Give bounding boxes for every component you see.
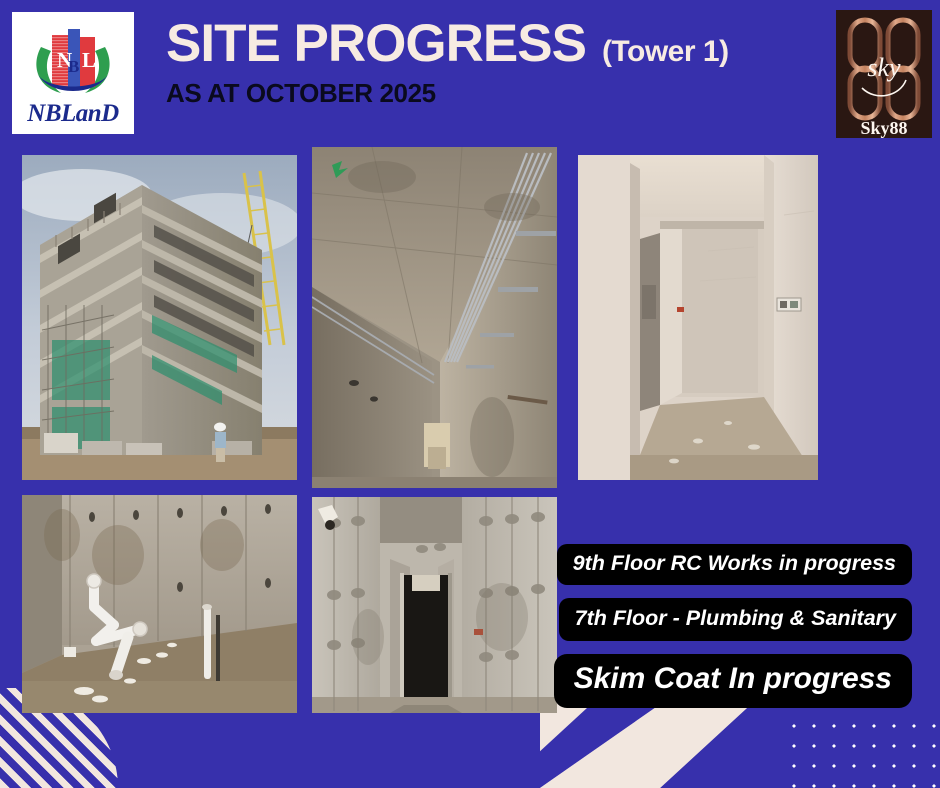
- svg-text:B: B: [68, 57, 79, 76]
- photo-concrete-interior-dark-doorway: [312, 497, 557, 713]
- title-block: SITE PROGRESS (Tower 1) AS AT OCTOBER 20…: [166, 16, 729, 109]
- photo-plumbing-sanitary-pipework: [22, 495, 297, 713]
- sky88-logo: sky Sky88: [836, 10, 932, 138]
- nbland-building-logo-icon: N B L: [27, 25, 119, 99]
- nbland-logo: N B L NBLanD: [12, 12, 134, 134]
- page-subtitle: AS AT OCTOBER 2025: [166, 78, 729, 109]
- site-progress-poster: N B L NBLanD SITE PROGRESS (Tower 1) AS …: [0, 0, 940, 788]
- photo-corridor-ceiling-conduits: [312, 147, 557, 488]
- caption-plumbing-sanitary: 7th Floor - Plumbing & Sanitary: [559, 598, 912, 641]
- tower-tag: (Tower 1): [602, 35, 729, 69]
- caption-list: 9th Floor RC Works in progress 7th Floor…: [554, 544, 912, 708]
- svg-text:sky: sky: [867, 53, 901, 82]
- caption-rc-works: 9th Floor RC Works in progress: [557, 544, 912, 585]
- white-dot-grid: [780, 710, 940, 788]
- photo-building-exterior-with-tower-crane: [22, 155, 297, 480]
- photo-skim-coated-room-doorway: [578, 155, 818, 480]
- poster-header: N B L NBLanD SITE PROGRESS (Tower 1) AS …: [0, 0, 940, 148]
- nbland-wordmark: NBLanD: [27, 101, 118, 126]
- svg-text:L: L: [82, 48, 96, 72]
- caption-skim-coat: Skim Coat In progress: [554, 654, 912, 708]
- sky88-logo-icon: sky Sky88: [836, 10, 932, 138]
- page-title: SITE PROGRESS: [166, 16, 586, 72]
- svg-text:Sky88: Sky88: [860, 118, 907, 138]
